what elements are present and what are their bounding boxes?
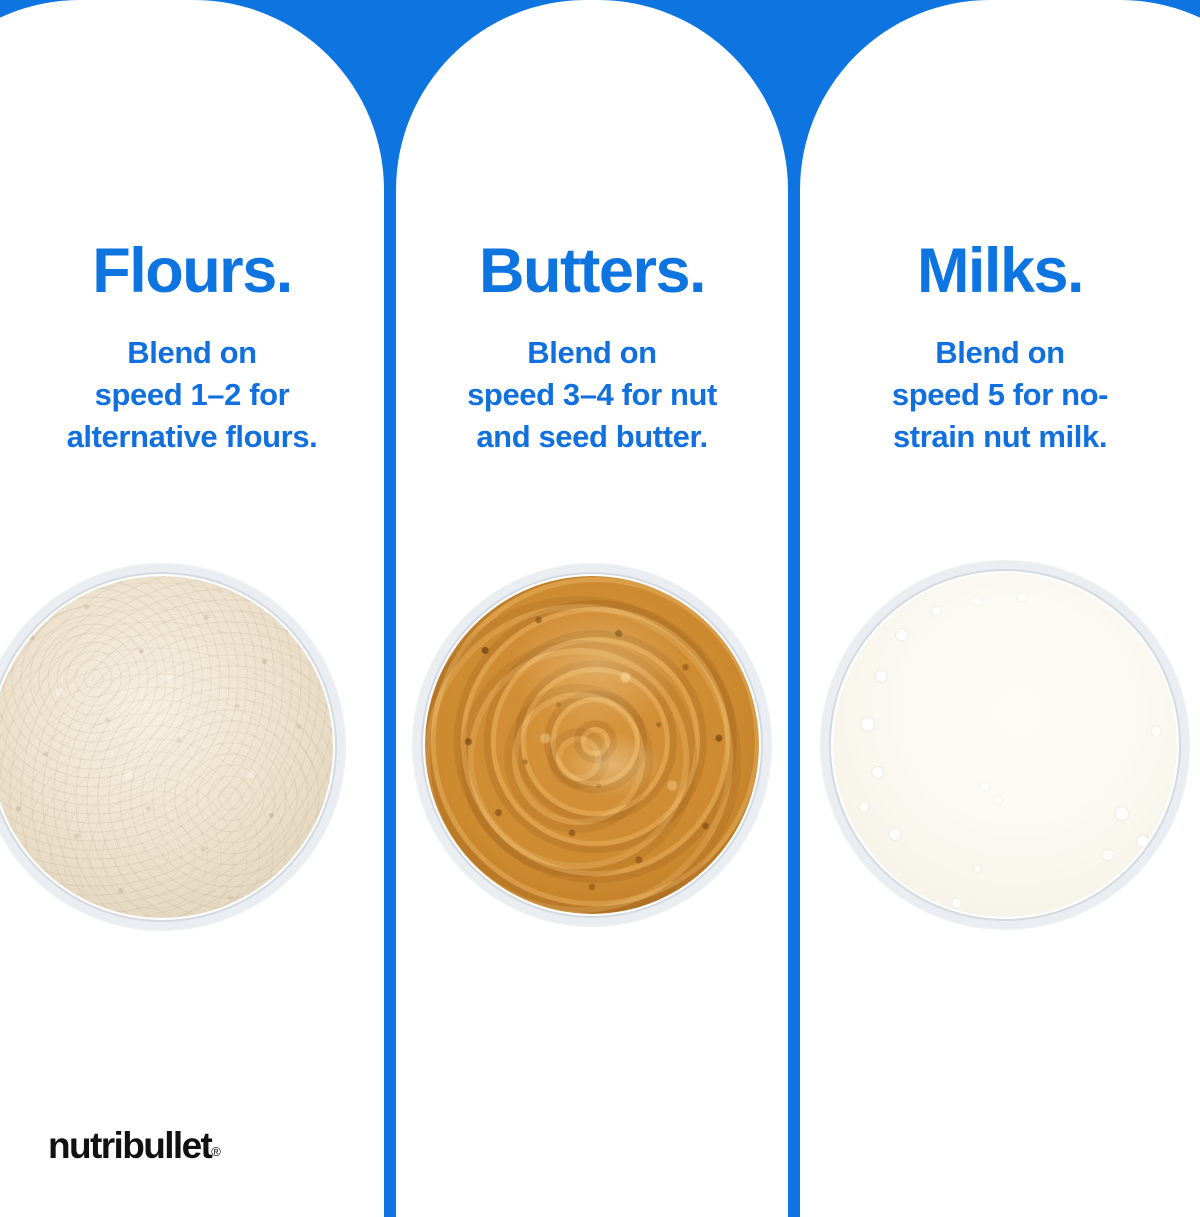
column-milks: Milks. Blend on speed 5 for no- strain n… xyxy=(800,0,1200,1217)
subtext-flours: Blend on speed 1–2 for alternative flour… xyxy=(0,332,384,458)
flour-bowl xyxy=(0,565,344,929)
heading-milks: Milks. xyxy=(800,240,1200,303)
subtext-butters: Blend on speed 3–4 for nut and seed butt… xyxy=(396,332,788,458)
heading-flours: Flours. xyxy=(0,240,384,303)
poster-root: Flours. Blend on speed 1–2 for alternati… xyxy=(0,0,1200,1217)
heading-butters: Butters. xyxy=(396,240,788,303)
subtext-milks: Blend on speed 5 for no- strain nut milk… xyxy=(800,332,1200,458)
column-flours: Flours. Blend on speed 1–2 for alternati… xyxy=(0,0,384,1217)
milk-bowl xyxy=(822,562,1188,928)
registered-trademark-icon: ® xyxy=(211,1144,221,1159)
nut-butter-bowl xyxy=(414,565,770,925)
flour-bowl-glass-rim xyxy=(0,565,344,929)
milk-bowl-glass-rim xyxy=(822,562,1188,928)
nut-butter-bowl-glass-rim xyxy=(414,565,770,925)
nutribullet-logo-text: nutribullet xyxy=(48,1125,211,1166)
column-butters: Butters. Blend on speed 3–4 for nut and … xyxy=(396,0,788,1217)
nutribullet-logo: nutribullet® xyxy=(48,1127,221,1164)
